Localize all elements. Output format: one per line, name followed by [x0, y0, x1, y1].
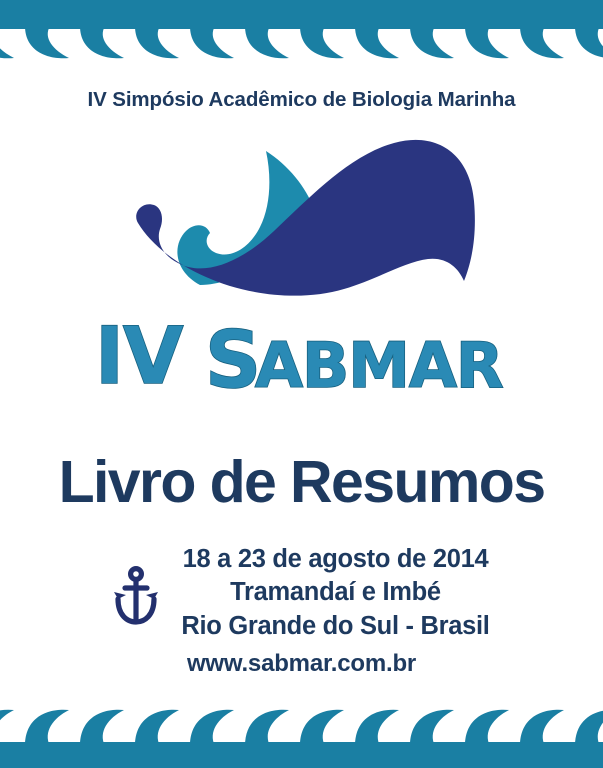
event-title: IV Simpósio Acadêmico de Biologia Marinh… [0, 88, 603, 112]
poster-page: IV Simpósio Acadêmico de Biologia Marinh… [0, 0, 603, 768]
wordmark-initial: S [205, 316, 260, 406]
wave-border-top [0, 0, 603, 64]
page-title: Livro de Resumos [0, 452, 603, 514]
wordmark-rest: ABMAR [255, 329, 503, 402]
event-details-text: 18 a 23 de agosto de 2014 Tramandaí e Im… [181, 543, 489, 643]
sabmar-wordmark: IV S ABMAR [0, 305, 603, 405]
event-dates: 18 a 23 de agosto de 2014 [181, 543, 489, 576]
wordmark-prefix: IV [95, 312, 183, 402]
anchor-icon [113, 565, 159, 627]
event-cities: Tramandaí e Imbé [181, 576, 489, 609]
wave-fin-logo [0, 133, 603, 298]
wave-border-bottom [0, 698, 603, 768]
event-details: 18 a 23 de agosto de 2014 Tramandaí e Im… [0, 543, 603, 643]
website-url[interactable]: www.sabmar.com.br [0, 650, 603, 678]
event-region: Rio Grande do Sul - Brasil [181, 610, 489, 643]
